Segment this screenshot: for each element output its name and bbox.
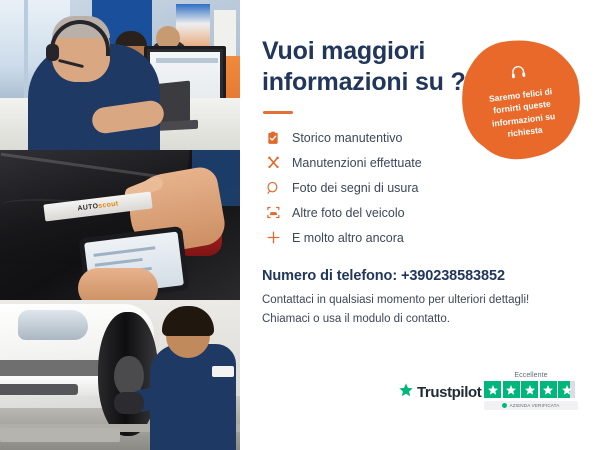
star-icon: [521, 381, 538, 398]
wall-poster: [176, 4, 210, 48]
car-lift: [0, 428, 120, 442]
verified-label: AZIENDA VERIFICATA: [509, 403, 559, 408]
phone-number[interactable]: Numero di telefono: +390238583852: [262, 268, 578, 284]
headset-earcup: [46, 44, 59, 61]
list-item: Altre foto del veicolo: [262, 200, 578, 225]
star-icon: [558, 381, 575, 398]
grille-upper: [0, 360, 106, 376]
list-item: Foto dei segni di usura: [262, 175, 578, 200]
star-icon: [503, 381, 520, 398]
photo-column: AUTOscout: [0, 0, 240, 450]
title-divider: [263, 111, 293, 114]
verified-check-icon: [502, 403, 507, 408]
trustpilot-logo: Trustpilot: [398, 382, 481, 403]
star-icon: [484, 381, 501, 398]
star-rating: [484, 381, 578, 398]
list-item-label: E molto altro ancora: [292, 231, 404, 245]
magnifier-icon: [262, 181, 284, 195]
status-badge: Saremo felici di fornirti queste informa…: [455, 33, 587, 165]
call-center-photo: [0, 0, 240, 150]
plus-icon: [262, 230, 284, 245]
tablet-text-line: [93, 246, 155, 257]
promo-banner: AUTOscout: [0, 0, 600, 450]
headset-icon: [508, 63, 528, 87]
clipboard-check-icon: [262, 131, 284, 145]
trustpilot-name: Trustpilot: [417, 384, 481, 401]
car-frame-icon: [262, 205, 284, 220]
rating-label: Eccellente: [484, 372, 578, 379]
trustpilot-widget[interactable]: Trustpilot Eccellente: [398, 372, 578, 422]
list-item-label: Altre foto del veicolo: [292, 206, 405, 220]
badge-content: Saremo felici di fornirti queste informa…: [455, 33, 587, 165]
verified-badge: AZIENDA VERIFICATA: [484, 401, 578, 410]
page-title: Vuoi maggiori informazioni su ?: [262, 36, 474, 97]
list-item-label: Foto dei segni di usura: [292, 181, 418, 195]
list-item: E molto altro ancora: [262, 225, 578, 250]
technician-hand-lower: [78, 268, 158, 300]
mechanic-glove: [114, 392, 144, 414]
headlight: [18, 310, 88, 340]
strip-label: AUTO: [77, 203, 99, 212]
list-item-label: Manutenzioni effettuate: [292, 156, 422, 170]
uniform-logo: [212, 366, 234, 377]
mechanic-photo: [0, 300, 240, 450]
contact-line-2: Chiamaci o usa il modulo di contatto.: [262, 311, 578, 329]
list-item-label: Storico manutentivo: [292, 131, 402, 145]
tools-cross-icon: [262, 155, 284, 170]
trustpilot-star-icon: [398, 382, 414, 403]
vehicle-inspection-photo: AUTOscout: [0, 150, 240, 300]
badge-text: Saremo felici di fornirti queste informa…: [476, 84, 569, 143]
monitor-toolbar: [156, 58, 218, 63]
star-icon: [540, 381, 557, 398]
tablet-text-line: [95, 258, 143, 267]
contact-line-1: Contattaci in qualsiasi momento per ulte…: [262, 292, 578, 310]
trustpilot-rating: Eccellente AZIEND: [484, 372, 578, 410]
strip-label-accent: scout: [98, 201, 119, 210]
grille-lower: [0, 384, 78, 395]
